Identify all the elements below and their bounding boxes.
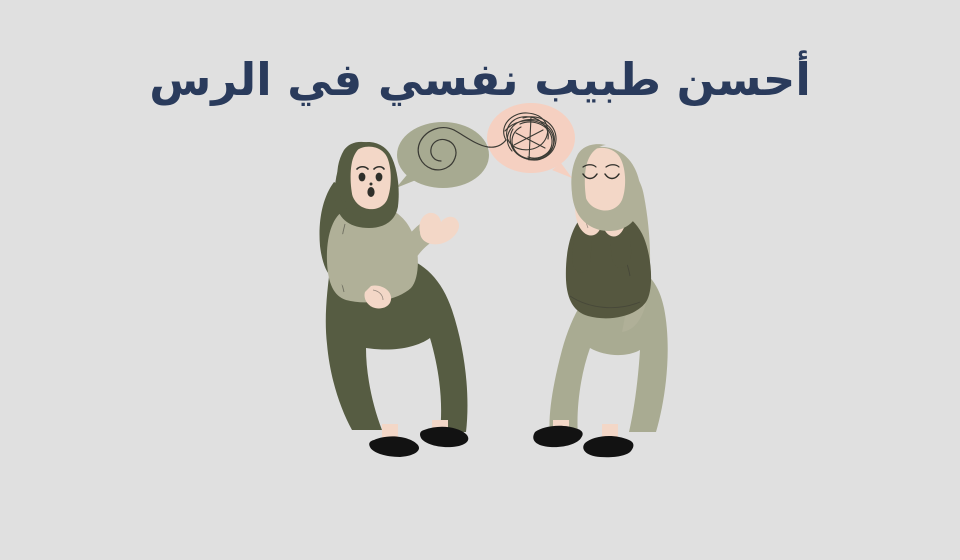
left-woman-eye-right <box>376 173 383 182</box>
thought-bubble-scribble <box>487 103 575 178</box>
figure-right-woman <box>533 144 667 457</box>
banner-root: أحسن طبيب نفسي في الرس <box>0 0 960 560</box>
right-woman-shoe-back <box>533 426 582 447</box>
illustration-two-women-counselling <box>0 0 960 560</box>
right-woman-shoe-front <box>583 436 633 457</box>
figure-left-woman <box>320 142 469 457</box>
left-woman-eye-left <box>359 173 366 182</box>
left-woman-face <box>349 147 391 210</box>
speech-bubble-spiral <box>396 122 489 188</box>
left-woman-shoe-front <box>369 436 419 457</box>
left-woman-mouth-open <box>367 187 374 197</box>
left-woman-raised-hand <box>419 213 459 245</box>
left-woman-nose <box>370 183 373 186</box>
